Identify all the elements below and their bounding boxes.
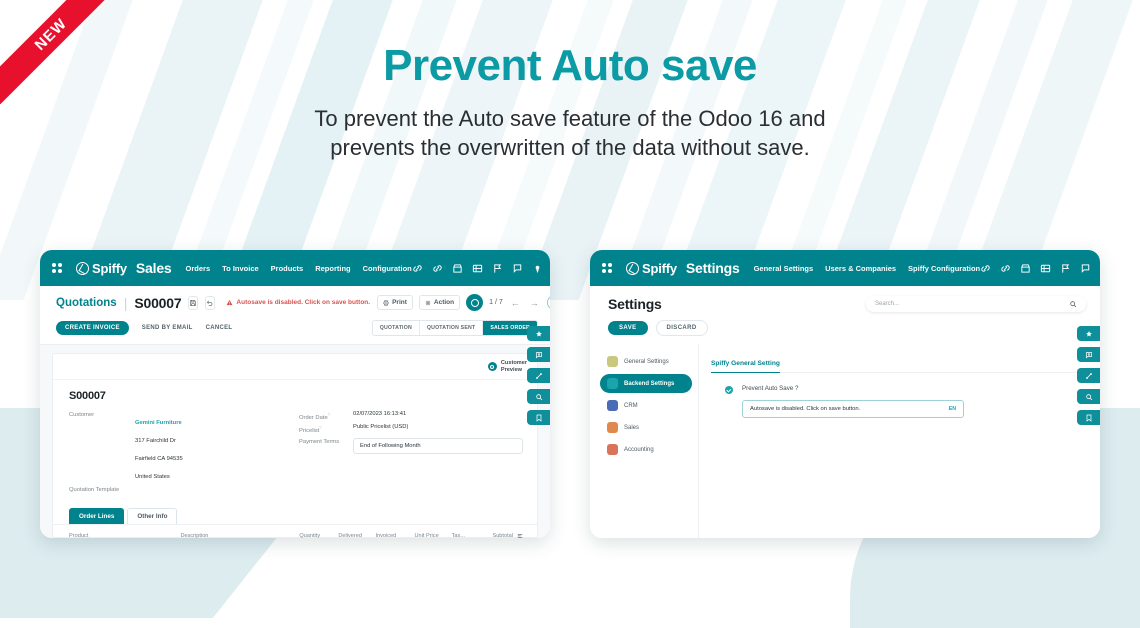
pager-next-icon[interactable]: → (528, 298, 541, 308)
sidebar-item-sales[interactable]: Sales (600, 418, 692, 437)
autosave-warning: Autosave is disabled. Click on save butt… (226, 299, 370, 306)
order-date-label: Order Date? (299, 411, 345, 421)
nav-item-to-invoice[interactable]: To Invoice (222, 264, 259, 273)
nav-item-products[interactable]: Products (271, 264, 304, 273)
message-icon[interactable] (512, 263, 523, 274)
status-bar: QUOTATION QUOTATION SENT SALES ORDER (372, 320, 538, 336)
form-notebook-tabs: Order Lines Other Info (53, 496, 537, 524)
section-tab-spiffy-general-setting[interactable]: Spiffy General Setting (711, 360, 780, 373)
app-name: Settings (686, 260, 740, 276)
sales-icon (607, 422, 618, 433)
prevent-auto-save-checkbox[interactable] (725, 386, 733, 394)
print-button[interactable]: Print (377, 295, 413, 310)
column-header-tax: Tax... (452, 533, 493, 538)
hero-section: Prevent Auto save To prevent the Auto sa… (0, 0, 1140, 162)
autosave-message-value: Autosave is disabled. Click on save butt… (750, 406, 949, 412)
pager-count: 1 / 7 (489, 299, 503, 306)
sidebar-item-accounting[interactable]: Accounting (600, 440, 692, 459)
customer-label: Customer (69, 411, 127, 418)
backend-settings-icon (607, 378, 618, 389)
discard-button[interactable]: DISCARD (656, 320, 708, 336)
message-icon[interactable] (1080, 263, 1091, 274)
breadcrumb-current-record: S00007 (134, 295, 181, 311)
prevent-auto-save-row: Prevent Auto Save ? (711, 373, 1084, 394)
left-floating-buttons (527, 326, 550, 425)
sidebar-label-sales: Sales (624, 425, 639, 431)
screenshot-settings: Spiffy Settings General Settings Users &… (590, 250, 1100, 538)
star-icon[interactable] (527, 326, 550, 341)
settings-page-title: Settings (608, 296, 662, 312)
new-ribbon-label: NEW (0, 0, 118, 104)
nav-item-reporting[interactable]: Reporting (315, 264, 350, 273)
send-by-email-button[interactable]: SEND BY EMAIL (142, 325, 193, 331)
customer-value[interactable]: Gemini Furniture (135, 420, 182, 426)
activity-link-icon[interactable] (980, 263, 991, 274)
cancel-button[interactable]: CANCEL (206, 325, 233, 331)
left-navbar: Spiffy Sales Orders To Invoice Products … (40, 250, 550, 286)
screenshot-row: Spiffy Sales Orders To Invoice Products … (0, 250, 1140, 538)
customer-address-line3: United States (135, 474, 170, 480)
activity-link-badge-icon[interactable] (1000, 263, 1011, 274)
print-icon (383, 300, 389, 306)
discard-undo-icon[interactable] (205, 296, 215, 310)
customer-address-line1: 317 Fairchild Dr (135, 438, 176, 444)
search-icon[interactable] (1069, 300, 1077, 308)
tab-order-lines[interactable]: Order Lines (69, 508, 124, 524)
pager-prev-icon[interactable]: ← (509, 298, 522, 308)
settings-main-panel: Spiffy General Setting Prevent Auto Save… (698, 344, 1100, 538)
brand-logo[interactable]: Spiffy (76, 261, 127, 276)
gear-icon (425, 300, 431, 306)
column-header-product: Product (69, 533, 180, 538)
customer-address-line2: Fairfield CA 94535 (135, 456, 183, 462)
tab-other-info[interactable]: Other Info (127, 508, 177, 524)
save-icon[interactable] (188, 296, 198, 310)
chat-search-icon[interactable] (1077, 347, 1100, 362)
column-header-invoiced: Invoiced (375, 533, 414, 538)
bookmark-icon[interactable] (527, 410, 550, 425)
form-fields: Customer Gemini Furniture 317 Fairchild … (53, 402, 537, 496)
column-header-quantity: Quantity (299, 533, 338, 538)
star-icon[interactable] (1077, 326, 1100, 341)
create-button[interactable]: Create (547, 295, 550, 310)
column-header-subtotal: Subtotal (492, 533, 523, 538)
payment-terms-input[interactable]: End of Following Month (353, 438, 523, 454)
right-navbar-icons (980, 260, 1100, 277)
order-date-value[interactable]: 02/07/2023 16:13:41 (353, 411, 406, 417)
page-subtitle-line2: prevents the overwritten of the data wit… (0, 133, 1140, 162)
page-subtitle-line1: To prevent the Auto save feature of the … (0, 104, 1140, 133)
grid-icon[interactable] (1040, 263, 1051, 274)
sidebar-label-accounting: Accounting (624, 447, 654, 453)
search-input[interactable]: Search... (866, 296, 1086, 312)
column-options-icon[interactable] (517, 533, 523, 538)
crm-icon (607, 400, 618, 411)
sidebar-label-crm: CRM (624, 403, 638, 409)
breadcrumb-quotations[interactable]: Quotations (56, 297, 117, 309)
brand-logo[interactable]: Spiffy (626, 261, 677, 276)
status-quotation[interactable]: QUOTATION (373, 321, 420, 335)
create-invoice-button[interactable]: CREATE INVOICE (56, 321, 129, 335)
nav-item-configuration[interactable]: Configuration (363, 264, 412, 273)
settings-body: General Settings Backend Settings CRM Sa… (590, 344, 1100, 538)
form-column-left: Customer Gemini Furniture 317 Fairchild … (69, 411, 279, 496)
page-title: Prevent Auto save (0, 42, 1140, 90)
pricelist-label: Pricelist? (299, 424, 345, 434)
nav-item-orders[interactable]: Orders (186, 264, 211, 273)
settings-action-bar: SAVE DISCARD (590, 320, 1100, 344)
pin-icon[interactable] (532, 263, 543, 274)
nav-item-users-companies[interactable]: Users & Companies (825, 264, 896, 273)
control-panel: Quotations | S00007 Autosave is disabled… (40, 286, 550, 345)
spiffy-logo-icon (76, 262, 89, 275)
autosave-warning-text: Autosave is disabled. Click on save butt… (236, 299, 370, 306)
edit-pencil-icon[interactable] (527, 368, 550, 383)
sidebar-item-general-settings[interactable]: General Settings (600, 352, 692, 371)
sidebar-item-backend-settings[interactable]: Backend Settings (600, 374, 692, 393)
print-label: Print (392, 299, 407, 306)
zoom-icon[interactable] (527, 389, 550, 404)
grid-icon[interactable] (472, 263, 483, 274)
right-navbar: Spiffy Settings General Settings Users &… (590, 250, 1100, 286)
customer-preview-label-1: Customer (501, 360, 527, 366)
language-badge[interactable]: EN (949, 406, 956, 412)
settings-header: Settings Search... (590, 286, 1100, 320)
action-button[interactable]: Action (419, 295, 460, 310)
record-status-circle-icon[interactable] (466, 294, 483, 311)
order-lines-table-header: Product Description Quantity Delivered I… (53, 524, 537, 538)
right-floating-buttons (1077, 326, 1100, 425)
smart-button-row: Customer Preview (53, 354, 537, 380)
pricelist-value[interactable]: Public Pricelist (USD) (353, 424, 408, 430)
nav-item-spiffy-configuration[interactable]: Spiffy Configuration (908, 264, 980, 273)
activity-link-icon[interactable] (412, 263, 423, 274)
flag-icon[interactable] (492, 263, 503, 274)
accounting-icon (607, 444, 618, 455)
form-sheet: Customer Preview S00007 Customer Gemini … (52, 353, 538, 538)
customer-preview-icon (488, 362, 497, 371)
sidebar-item-crm[interactable]: CRM (600, 396, 692, 415)
bookmark-icon[interactable] (1077, 410, 1100, 425)
prevent-auto-save-label: Prevent Auto Save ? (742, 385, 798, 392)
record-title: S00007 (53, 380, 537, 402)
shop-icon[interactable] (1020, 263, 1031, 274)
form-column-right: Order Date? 02/07/2023 16:13:41 Pricelis… (299, 411, 523, 496)
quotation-template-label: Quotation Template (69, 486, 127, 493)
column-header-description: Description (180, 533, 299, 538)
payment-terms-label: Payment Terms (299, 438, 345, 445)
search-placeholder: Search... (875, 301, 1063, 307)
chat-search-icon[interactable] (527, 347, 550, 362)
save-button[interactable]: SAVE (608, 321, 648, 335)
status-quotation-sent[interactable]: QUOTATION SENT (420, 321, 483, 335)
activity-link-badge-icon[interactable] (432, 263, 443, 274)
settings-sidebar: General Settings Backend Settings CRM Sa… (590, 344, 698, 538)
spiffy-logo-icon (626, 262, 639, 275)
zoom-icon[interactable] (1077, 389, 1100, 404)
warning-triangle-icon (226, 299, 233, 306)
right-nav-menu: General Settings Users & Companies Spiff… (754, 264, 981, 273)
new-ribbon: NEW (0, 0, 118, 118)
general-settings-icon (607, 356, 618, 367)
apps-grid-icon[interactable] (602, 263, 612, 273)
flag-icon[interactable] (1060, 263, 1071, 274)
sidebar-label-backend-settings: Backend Settings (624, 381, 674, 387)
action-label: Action (434, 299, 454, 306)
column-header-unit-price: Unit Price (414, 533, 451, 538)
left-navbar-icons (412, 260, 550, 277)
customer-preview-button[interactable]: Customer Preview (488, 360, 527, 374)
breadcrumb-separator: | (124, 295, 128, 311)
form-sheet-area: Customer Preview S00007 Customer Gemini … (40, 345, 550, 538)
shop-icon[interactable] (452, 263, 463, 274)
app-name: Sales (136, 260, 172, 276)
screenshot-sales-order: Spiffy Sales Orders To Invoice Products … (40, 250, 550, 538)
autosave-message-input[interactable]: Autosave is disabled. Click on save butt… (742, 400, 964, 418)
nav-item-general-settings[interactable]: General Settings (754, 264, 814, 273)
brand-name: Spiffy (642, 261, 677, 276)
edit-pencil-icon[interactable] (1077, 368, 1100, 383)
column-header-delivered: Delivered (338, 533, 375, 538)
customer-preview-label-2: Preview (501, 367, 522, 373)
apps-grid-icon[interactable] (52, 263, 62, 273)
brand-name: Spiffy (92, 261, 127, 276)
sidebar-label-general-settings: General Settings (624, 359, 669, 365)
left-nav-menu: Orders To Invoice Products Reporting Con… (186, 264, 412, 273)
